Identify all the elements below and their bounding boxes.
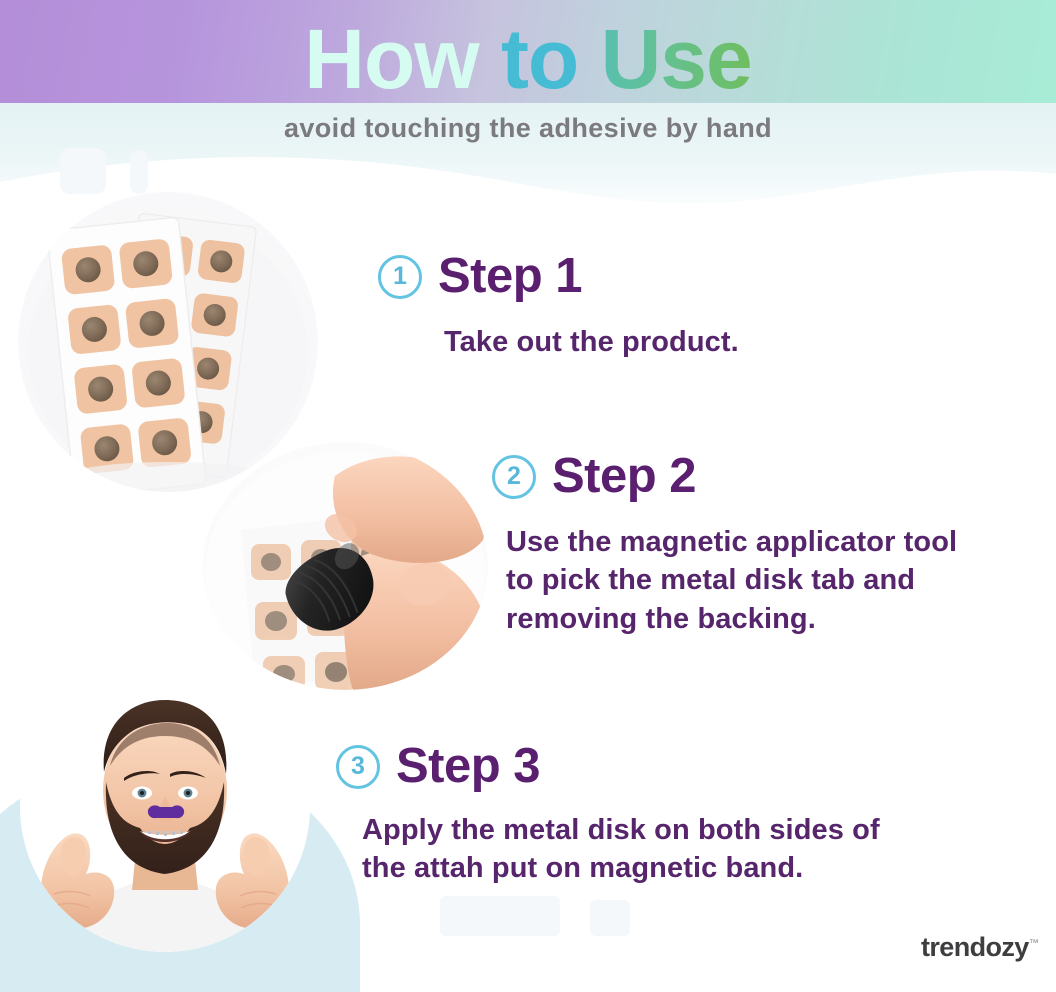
page-subtitle: avoid touching the adhesive by hand bbox=[0, 113, 1056, 144]
step-1-heading: 1 Step 1 bbox=[378, 252, 739, 301]
step-2-block: 2 Step 2 Use the magnetic applicator too… bbox=[492, 452, 957, 638]
step-1-title: Step 1 bbox=[438, 252, 582, 301]
page-title-word-how: How bbox=[304, 12, 478, 106]
step-2-description-line: Use the magnetic applicator tool bbox=[506, 523, 957, 561]
ghost-shape-c bbox=[440, 896, 560, 936]
step-2-description-line: removing the backing. bbox=[506, 600, 957, 638]
step-3-heading: 3 Step 3 bbox=[336, 742, 880, 791]
trademark-symbol: ™ bbox=[1029, 938, 1038, 949]
step-2-number-badge: 2 bbox=[492, 455, 536, 499]
page-title-word-use: Use bbox=[601, 12, 752, 106]
applicator-tool-in-hand-photo bbox=[203, 442, 488, 690]
brand-logo-text: trendozy bbox=[921, 932, 1029, 962]
ghost-shape-d bbox=[590, 900, 630, 936]
step-2-description-line: to pick the metal disk tab and bbox=[506, 561, 957, 599]
step-3-block: 3 Step 3 Apply the metal disk on both si… bbox=[336, 742, 880, 888]
ghost-shape-b bbox=[130, 150, 148, 194]
step-1-block: 1 Step 1 Take out the product. bbox=[378, 252, 739, 361]
ghost-shape-a bbox=[60, 148, 106, 194]
infographic-canvas: How to Use avoid touching the adhesive b… bbox=[0, 0, 1056, 992]
step-2-heading: 2 Step 2 bbox=[492, 452, 957, 501]
step-3-number-badge: 3 bbox=[336, 745, 380, 789]
step-2-description: Use the magnetic applicator tool to pick… bbox=[506, 523, 957, 638]
patch-sheets-photo bbox=[18, 192, 318, 492]
step-3-title: Step 3 bbox=[396, 742, 540, 791]
man-thumbs-up-nasal-strip-photo bbox=[20, 662, 310, 952]
page-title: How to Use bbox=[0, 15, 1056, 103]
step-2-title: Step 2 bbox=[552, 452, 696, 501]
step-1-description: Take out the product. bbox=[444, 323, 739, 361]
step-3-description-line: the attah put on magnetic band. bbox=[362, 849, 880, 887]
brand-logo: trendozy™ bbox=[921, 932, 1038, 963]
step-1-number-badge: 1 bbox=[378, 255, 422, 299]
step-3-description: Apply the metal disk on both sides of th… bbox=[362, 811, 880, 888]
page-title-word-to: to bbox=[501, 12, 578, 106]
step-3-description-line: Apply the metal disk on both sides of bbox=[362, 811, 880, 849]
